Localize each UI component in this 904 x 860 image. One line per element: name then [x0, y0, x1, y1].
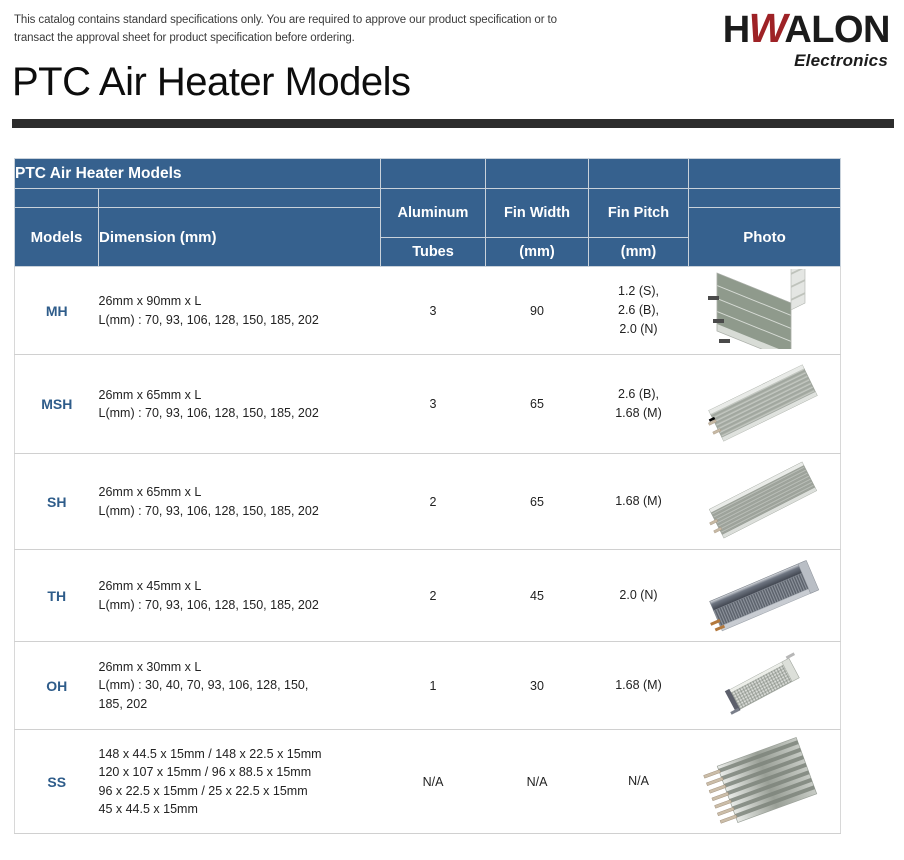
dimension-line: 148 x 44.5 x 15mm / 148 x 22.5 x 15mm: [99, 745, 381, 763]
table-row: TH26mm x 45mm x LL(mm) : 70, 93, 106, 12…: [15, 550, 841, 642]
fin-pitch-line: 2.0 (N): [589, 320, 689, 339]
cell-dimension: 26mm x 45mm x LL(mm) : 70, 93, 106, 128,…: [99, 550, 381, 642]
caption-spacer-1: [381, 159, 486, 189]
fin-pitch-line: 1.68 (M): [589, 492, 689, 511]
cell-fin-width: 90: [486, 267, 589, 355]
dimension-line: L(mm) : 70, 93, 106, 128, 150, 185, 202: [99, 311, 381, 329]
header-fin-pitch-unit: (mm): [589, 238, 689, 267]
table-row: MSH26mm x 65mm x LL(mm) : 70, 93, 106, 1…: [15, 355, 841, 454]
disclaimer-text: This catalog contains standard specifica…: [14, 12, 574, 48]
cell-aluminum-tubes: 3: [381, 267, 486, 355]
oh-heater-photo: [701, 648, 827, 720]
cell-fin-width: 30: [486, 642, 589, 730]
cell-model: SH: [15, 454, 99, 550]
page-title: PTC Air Heater Models: [12, 62, 411, 102]
dimension-line: 26mm x 45mm x L: [99, 577, 381, 595]
header-top-strip: Aluminum Fin Width Fin Pitch: [15, 189, 841, 208]
th-heater-photo: [701, 554, 827, 634]
cell-fin-width: 65: [486, 454, 589, 550]
cell-aluminum-tubes: 2: [381, 454, 486, 550]
table-row: SS148 x 44.5 x 15mm / 148 x 22.5 x 15mm1…: [15, 730, 841, 834]
dimension-line: 185, 202: [99, 695, 381, 713]
cell-model: SS: [15, 730, 99, 834]
dimension-line: 26mm x 30mm x L: [99, 658, 381, 676]
fin-pitch-line: N/A: [589, 772, 689, 791]
cell-photo: [689, 454, 841, 550]
cell-photo: [689, 355, 841, 454]
caption-spacer-3: [589, 159, 689, 189]
mh-heater-photo: [701, 269, 827, 349]
fin-pitch-line: 2.6 (B),: [589, 301, 689, 320]
cell-model: TH: [15, 550, 99, 642]
header-strip-models: [15, 189, 99, 208]
cell-dimension: 26mm x 90mm x LL(mm) : 70, 93, 106, 128,…: [99, 267, 381, 355]
cell-photo: [689, 730, 841, 834]
ptc-air-heater-spec-table: PTC Air Heater Models Aluminum Fin Width…: [14, 158, 841, 834]
cell-dimension: 26mm x 65mm x LL(mm) : 70, 93, 106, 128,…: [99, 355, 381, 454]
logo-subtitle: Electronics: [622, 51, 890, 71]
cell-dimension: 26mm x 65mm x LL(mm) : 70, 93, 106, 128,…: [99, 454, 381, 550]
header-tubes: Tubes: [381, 238, 486, 267]
logo-wordmark: HWALON: [622, 8, 890, 49]
fin-pitch-line: 2.0 (N): [589, 586, 689, 605]
table-caption: PTC Air Heater Models: [15, 159, 381, 189]
header-models: Models: [15, 208, 99, 267]
cell-fin-pitch: 1.68 (M): [589, 454, 689, 550]
spec-table-wrapper: PTC Air Heater Models Aluminum Fin Width…: [14, 158, 840, 834]
dimension-line: 26mm x 65mm x L: [99, 483, 381, 501]
table-caption-row: PTC Air Heater Models: [15, 159, 841, 189]
sh-heater-photo: [701, 460, 827, 540]
cell-model: MH: [15, 267, 99, 355]
cell-aluminum-tubes: 2: [381, 550, 486, 642]
fin-pitch-line: 1.2 (S),: [589, 282, 689, 301]
dimension-line: 26mm x 90mm x L: [99, 292, 381, 310]
caption-spacer-4: [689, 159, 841, 189]
cell-model: OH: [15, 642, 99, 730]
header-strip-photo: [689, 189, 841, 208]
header-fin-width: Fin Width: [486, 189, 589, 238]
cell-aluminum-tubes: 1: [381, 642, 486, 730]
hwalon-logo: HWALON Electronics: [622, 8, 890, 71]
cell-aluminum-tubes: 3: [381, 355, 486, 454]
dimension-line: 26mm x 65mm x L: [99, 386, 381, 404]
header-fin-width-unit: (mm): [486, 238, 589, 267]
dimension-line: L(mm) : 70, 93, 106, 128, 150, 185, 202: [99, 502, 381, 520]
cell-fin-pitch: 2.0 (N): [589, 550, 689, 642]
title-divider-bar: [12, 119, 894, 128]
cell-photo: [689, 550, 841, 642]
table-row: OH26mm x 30mm x LL(mm) : 30, 40, 70, 93,…: [15, 642, 841, 730]
cell-dimension: 26mm x 30mm x LL(mm) : 30, 40, 70, 93, 1…: [99, 642, 381, 730]
cell-fin-pitch: 1.68 (M): [589, 642, 689, 730]
cell-fin-width: 45: [486, 550, 589, 642]
logo-text-w: W: [749, 5, 786, 51]
dimension-line: L(mm) : 70, 93, 106, 128, 150, 185, 202: [99, 596, 381, 614]
cell-photo: [689, 267, 841, 355]
cell-fin-pitch: 1.2 (S),2.6 (B),2.0 (N): [589, 267, 689, 355]
cell-aluminum-tubes: N/A: [381, 730, 486, 834]
header-dimension: Dimension (mm): [99, 208, 381, 267]
msh-heater-photo: [701, 363, 827, 443]
cell-fin-pitch: 2.6 (B),1.68 (M): [589, 355, 689, 454]
header-photo: Photo: [689, 208, 841, 267]
caption-spacer-2: [486, 159, 589, 189]
ss-heater-photo: [701, 734, 827, 826]
catalog-page: This catalog contains standard specifica…: [0, 0, 904, 860]
logo-text-h: H: [723, 9, 750, 51]
fin-pitch-line: 1.68 (M): [589, 676, 689, 695]
table-row: SH26mm x 65mm x LL(mm) : 70, 93, 106, 12…: [15, 454, 841, 550]
cell-photo: [689, 642, 841, 730]
cell-fin-width: 65: [486, 355, 589, 454]
cell-dimension: 148 x 44.5 x 15mm / 148 x 22.5 x 15mm120…: [99, 730, 381, 834]
cell-fin-width: N/A: [486, 730, 589, 834]
dimension-line: 120 x 107 x 15mm / 96 x 88.5 x 15mm: [99, 763, 381, 781]
cell-model: MSH: [15, 355, 99, 454]
header-fin-pitch: Fin Pitch: [589, 189, 689, 238]
table-row: MH26mm x 90mm x LL(mm) : 70, 93, 106, 12…: [15, 267, 841, 355]
fin-pitch-line: 2.6 (B),: [589, 385, 689, 404]
dimension-line: 45 x 44.5 x 15mm: [99, 800, 381, 818]
header-aluminum: Aluminum: [381, 189, 486, 238]
dimension-line: L(mm) : 30, 40, 70, 93, 106, 128, 150,: [99, 676, 381, 694]
dimension-line: L(mm) : 70, 93, 106, 128, 150, 185, 202: [99, 404, 381, 422]
cell-fin-pitch: N/A: [589, 730, 689, 834]
dimension-line: 96 x 22.5 x 15mm / 25 x 22.5 x 15mm: [99, 782, 381, 800]
fin-pitch-line: 1.68 (M): [589, 404, 689, 423]
logo-text-alon: ALON: [784, 9, 890, 51]
header-strip-dimension: [99, 189, 381, 208]
